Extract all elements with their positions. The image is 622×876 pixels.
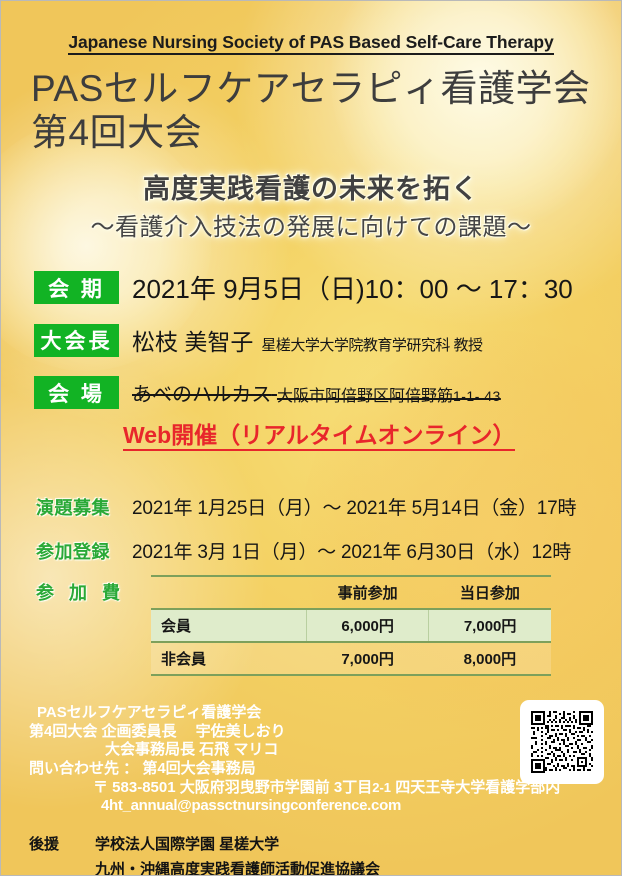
japanese-title-line1: PASセルフケアセラピィ看護学会 bbox=[31, 67, 591, 111]
nonmember-onsite-fee: 8,000円 bbox=[429, 642, 551, 675]
footer-postal-address: 〒 583-8501 大阪府羽曳野市学園前 3丁目2-1 四天王寺大学看護学部内 bbox=[93, 776, 560, 797]
badge-venue-label: 会 場 bbox=[34, 376, 119, 409]
col-head-blank bbox=[151, 576, 307, 609]
footer-supporter-2: 九州・沖縄高度実践看護師活動促進協議会 bbox=[95, 858, 380, 876]
footer-supporter-1: 学校法人国際学園 星槎大学 bbox=[95, 833, 279, 854]
chair-value: 松枝 美智子星槎大学大学院教育学研究科 教授 bbox=[132, 323, 483, 357]
member-advance-fee: 6,000円 bbox=[307, 609, 429, 642]
info-row-date: 会 期 2021年 9月5日（日)10：00 ～ 17：30 bbox=[34, 269, 573, 306]
info-row-chair: 大会長 松枝 美智子星槎大学大学院教育学研究科 教授 bbox=[34, 323, 483, 357]
chair-name: 松枝 美智子 bbox=[132, 329, 253, 355]
footer-email[interactable]: 4ht_annual@passctnursingconference.com bbox=[101, 797, 401, 814]
online-notice-text: Web開催（リアルタイムオンライン） bbox=[123, 422, 515, 451]
footer-postal-number: 2-1 bbox=[372, 780, 391, 795]
fee-label: 参 加 費 bbox=[36, 579, 132, 605]
nonmember-advance-fee: 7,000円 bbox=[307, 642, 429, 675]
english-society-title: Japanese Nursing Society of PAS Based Se… bbox=[1, 32, 621, 53]
english-society-title-text: Japanese Nursing Society of PAS Based Se… bbox=[68, 32, 553, 55]
table-row: 会員 6,000円 7,000円 bbox=[151, 609, 551, 642]
info-row-venue: 会 場 あべのハルカス 大阪市阿倍野区阿倍野筋1-1- 43 bbox=[34, 376, 501, 409]
table-bottom-rule bbox=[151, 675, 551, 676]
badge-date-label: 会 期 bbox=[34, 271, 119, 304]
table-bottom-rule-cell bbox=[151, 675, 551, 676]
japanese-conference-title: PASセルフケアセラピィ看護学会 第4回大会 bbox=[31, 67, 591, 154]
venue-name: あべのハルカス bbox=[132, 384, 271, 406]
row-label-nonmember: 非会員 bbox=[151, 642, 307, 675]
venue-value-strikethrough: あべのハルカス 大阪市阿倍野区阿倍野筋1-1- 43 bbox=[132, 378, 501, 407]
chair-affiliation: 星槎大学大学院教育学研究科 教授 bbox=[261, 337, 482, 354]
footer-postal-main: 〒 583-8501 大阪府羽曳野市学園前 3丁目 bbox=[93, 779, 372, 796]
table-row: 非会員 7,000円 8,000円 bbox=[151, 642, 551, 675]
footer-support-label: 後援 bbox=[29, 833, 59, 854]
conference-poster: Japanese Nursing Society of PAS Based Se… bbox=[0, 0, 622, 876]
col-head-onsite: 当日参加 bbox=[429, 576, 551, 609]
date-value: 2021年 9月5日（日)10：00 ～ 17：30 bbox=[132, 269, 573, 306]
conference-theme-sub: ～看護介入技法の発展に向けての課題～ bbox=[1, 207, 621, 242]
footer-secretariat-head: 大会事務局長 石飛 マリコ bbox=[105, 738, 278, 759]
footer-contact: 問い合わせ先 ： 第4回大会事務局 bbox=[29, 757, 256, 778]
online-notice: Web開催（リアルタイムオンライン） bbox=[123, 416, 515, 450]
registration-period: 2021年 3月 1日（月）～ 2021年 6月30日（水）12時 bbox=[132, 537, 571, 564]
row-label-member: 会員 bbox=[151, 609, 307, 642]
schedule-row-abstract: 演題募集 2021年 1月25日（月）～ 2021年 5月14日（金）17時 bbox=[36, 493, 576, 520]
schedule-row-registration: 参加登録 2021年 3月 1日（月）～ 2021年 6月30日（水）12時 bbox=[36, 537, 571, 564]
abstract-label: 演題募集 bbox=[36, 494, 132, 520]
conference-theme: 高度実践看護の未来を拓く bbox=[1, 167, 621, 206]
schedule-row-fee: 参 加 費 bbox=[36, 579, 132, 605]
venue-address-number: 1-1- 43 bbox=[453, 388, 501, 404]
badge-chair-label: 大会長 bbox=[34, 324, 119, 357]
qr-code-icon[interactable] bbox=[520, 700, 604, 784]
qr-code-svg bbox=[529, 709, 595, 775]
member-onsite-fee: 7,000円 bbox=[429, 609, 551, 642]
abstract-period: 2021年 1月25日（月）～ 2021年 5月14日（金）17時 bbox=[132, 493, 576, 520]
participation-fee-table: 事前参加 当日参加 会員 6,000円 7,000円 非会員 7,000円 8,… bbox=[151, 575, 551, 676]
japanese-title-line2: 第4回大会 bbox=[31, 111, 591, 155]
footer-organization: PASセルフケアセラピィ看護学会 bbox=[37, 701, 261, 722]
col-head-advance: 事前参加 bbox=[307, 576, 429, 609]
venue-address: 大阪市阿倍野区阿倍野筋 bbox=[277, 388, 453, 405]
table-header-row: 事前参加 当日参加 bbox=[151, 576, 551, 609]
registration-label: 参加登録 bbox=[36, 538, 132, 564]
